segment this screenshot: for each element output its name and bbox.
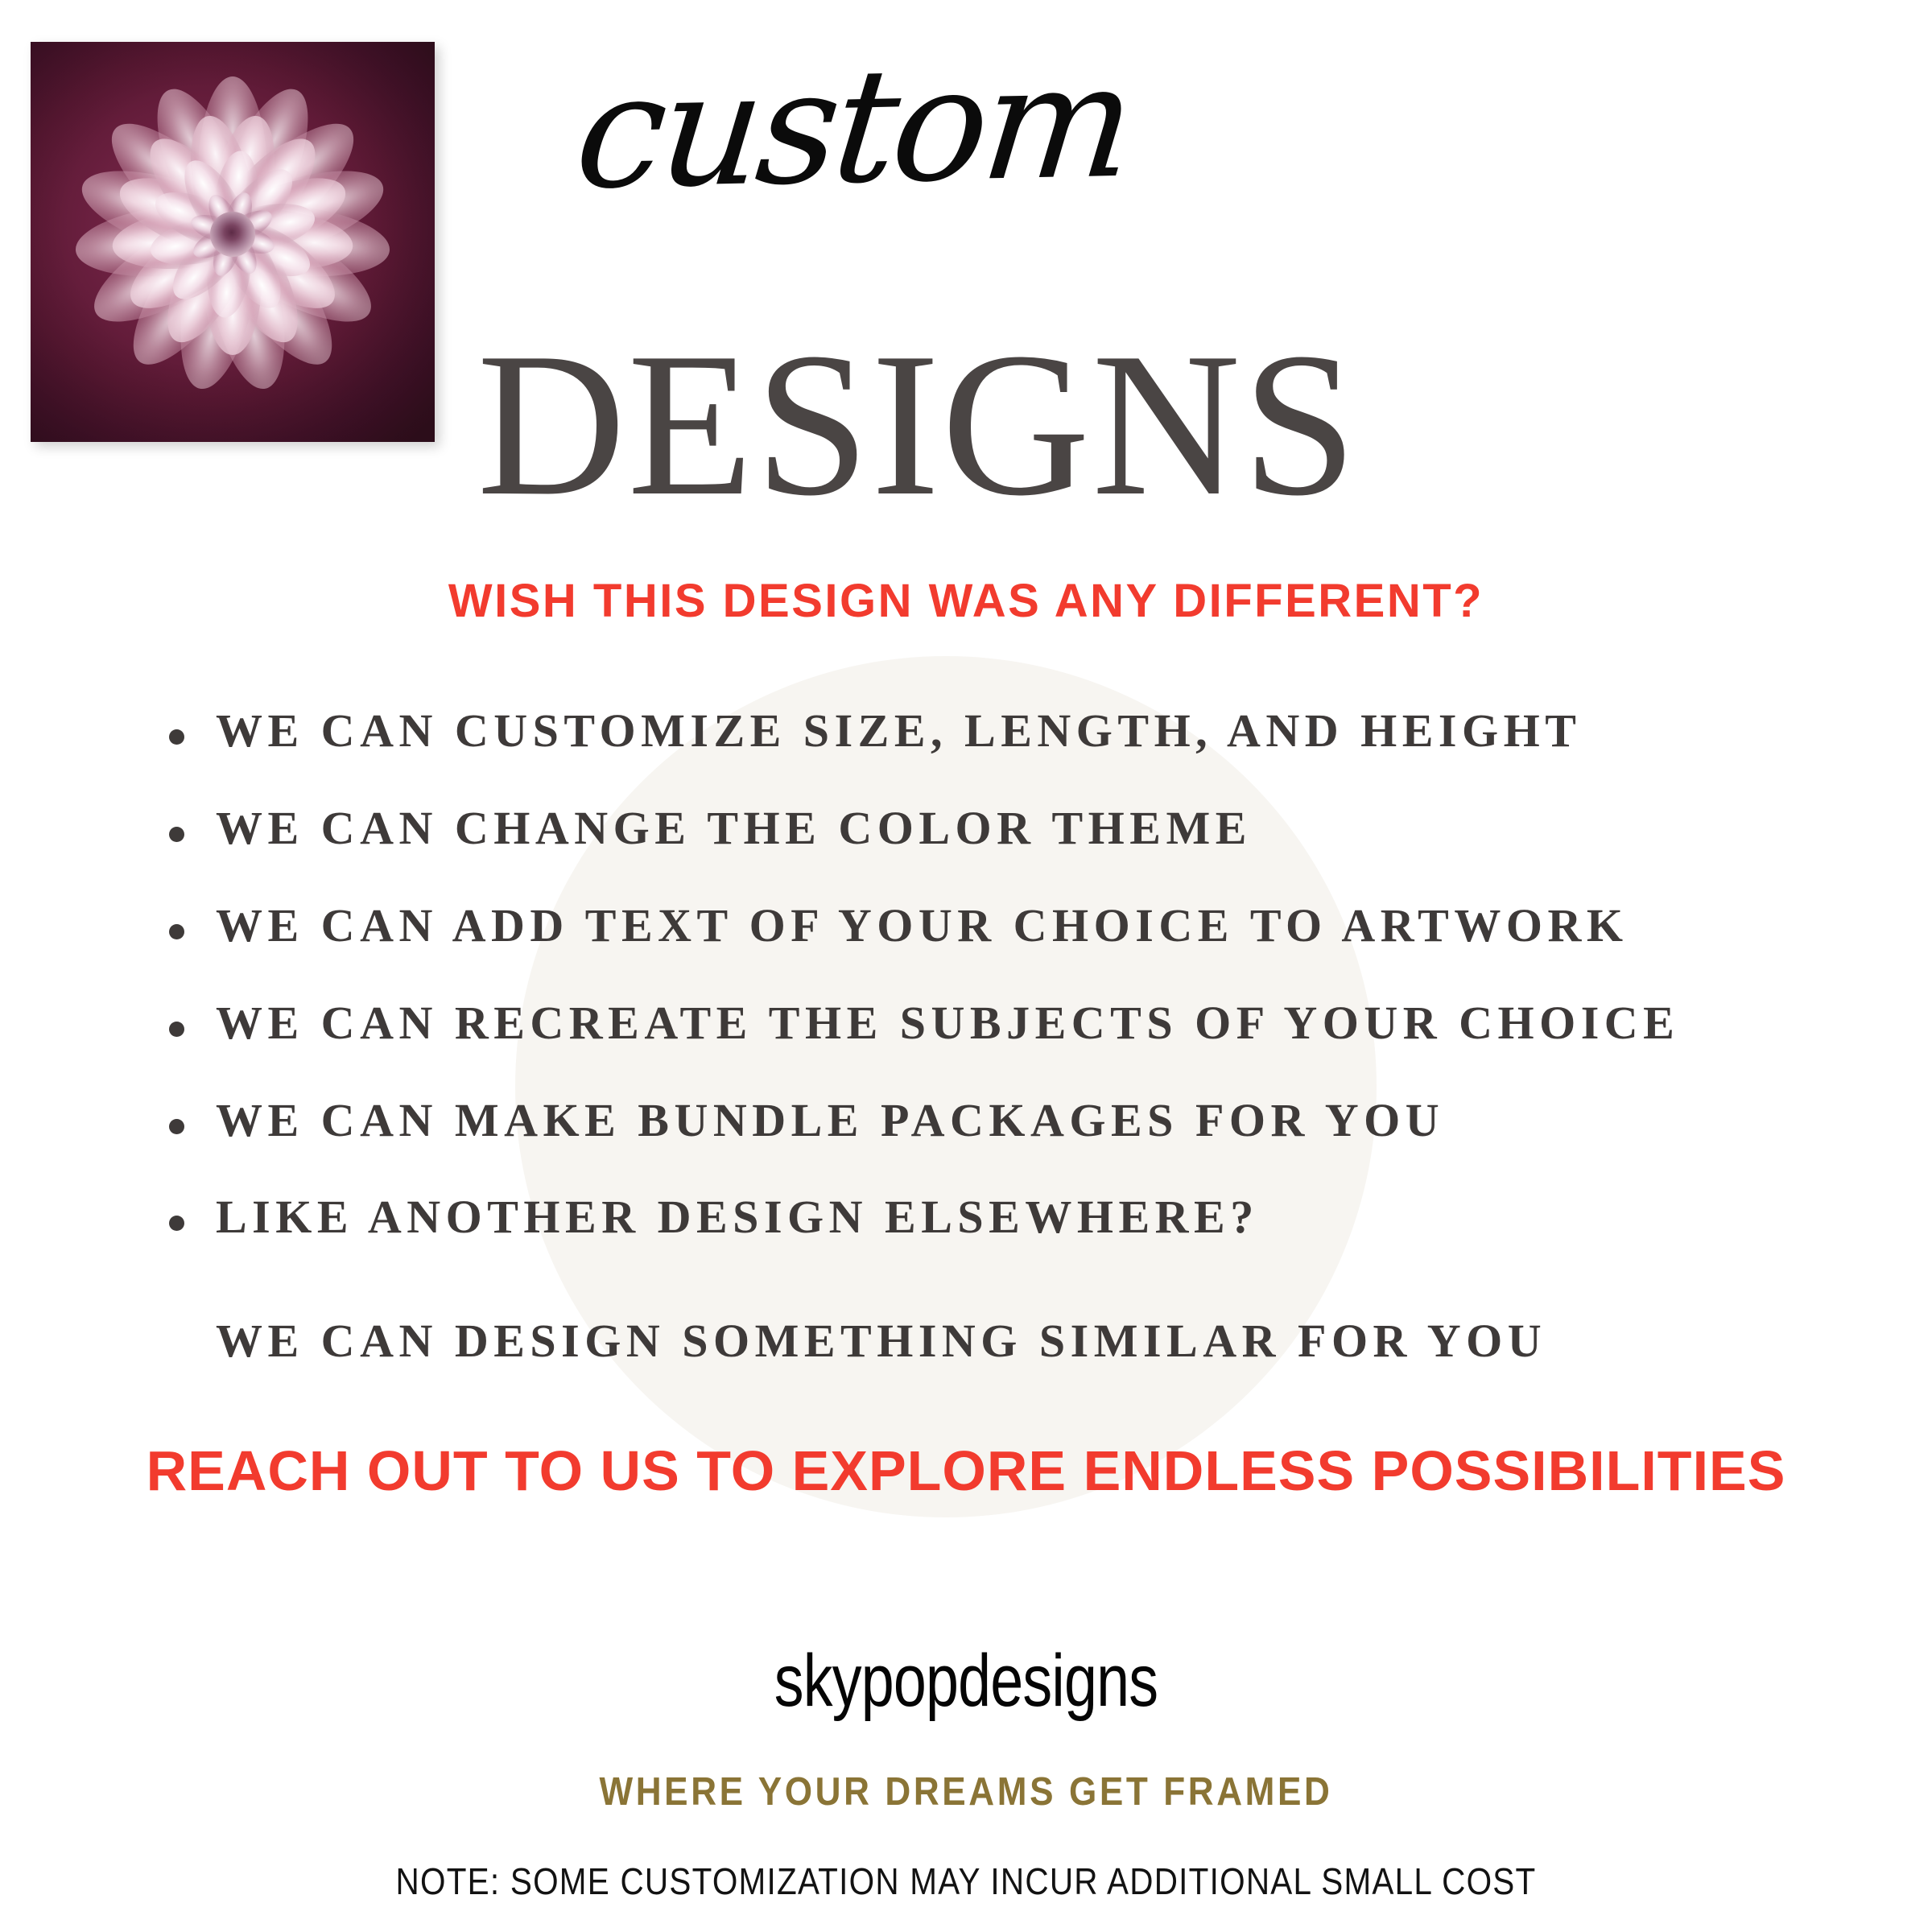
list-item: WE CAN CUSTOMIZE SIZE, LENGTH, AND HEIGH… xyxy=(161,707,1868,756)
flower-center xyxy=(210,212,255,257)
brand-logo-text: skypopdesigns xyxy=(193,1644,1739,1718)
list-item: LIKE ANOTHER DESIGN ELSEWHERE? xyxy=(161,1193,1868,1242)
list-item: WE CAN ADD TEXT OF YOUR CHOICE TO ARTWOR… xyxy=(161,902,1868,951)
page-title-serif: DESIGNS xyxy=(306,322,1529,528)
list-item: WE CAN RECREATE THE SUBJECTS OF YOUR CHO… xyxy=(161,999,1868,1048)
call-to-action-text: REACH OUT TO US TO EXPLORE ENDLESS POSSI… xyxy=(0,1443,1932,1499)
brand-tagline: WHERE YOUR DREAMS GET FRAMED xyxy=(97,1773,1835,1812)
feature-list: WE CAN CUSTOMIZE SIZE, LENGTH, AND HEIGH… xyxy=(161,707,1868,1290)
list-item: WE CAN MAKE BUNDLE PACKAGES FOR YOU xyxy=(161,1096,1868,1146)
subtitle-question: WISH THIS DESIGN WAS ANY DIFFERENT? xyxy=(0,578,1932,625)
page-title-script: custom xyxy=(442,40,1265,215)
list-item: WE CAN CHANGE THE COLOR THEME xyxy=(161,804,1868,853)
feature-continuation-text: WE CAN DESIGN SOMETHING SIMILAR FOR YOU xyxy=(216,1317,1546,1366)
footer-note: NOTE: SOME CUSTOMIZATION MAY INCUR ADDIT… xyxy=(116,1863,1816,1900)
